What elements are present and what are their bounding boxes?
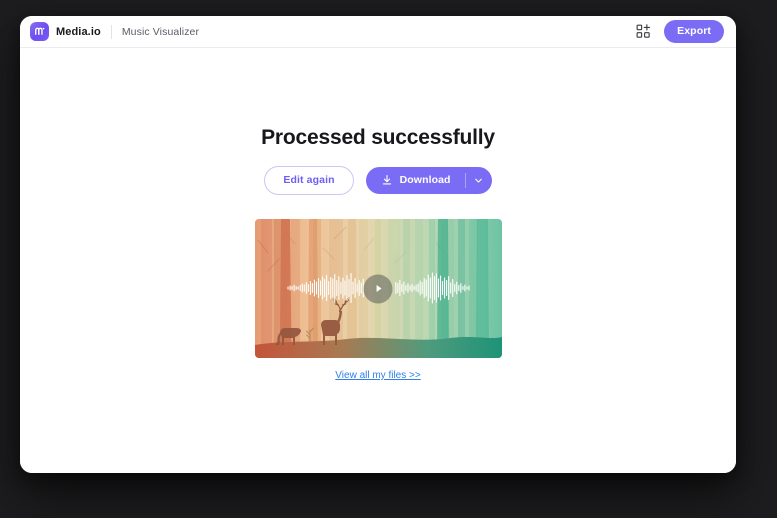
edit-again-button[interactable]: Edit again xyxy=(264,166,353,195)
download-button-group: Download xyxy=(366,167,492,194)
brand-name: Media.io xyxy=(56,26,101,38)
page-title: Processed successfully xyxy=(261,126,495,150)
brand[interactable]: Media.io xyxy=(30,22,101,41)
download-button-label: Download xyxy=(400,174,451,186)
media-io-logo-icon xyxy=(30,22,49,41)
play-icon xyxy=(372,283,384,295)
header-divider xyxy=(111,25,112,39)
app-header: Media.io Music Visualizer Export xyxy=(20,16,736,48)
desktop-backdrop: Media.io Music Visualizer Export Process xyxy=(0,0,777,518)
play-button[interactable] xyxy=(364,274,393,303)
view-all-files-link[interactable]: View all my files >> xyxy=(335,370,420,381)
app-window: Media.io Music Visualizer Export Process xyxy=(20,16,736,473)
download-icon xyxy=(381,174,393,186)
video-preview-thumbnail[interactable] xyxy=(255,219,502,358)
tool-name: Music Visualizer xyxy=(122,26,199,38)
header-actions: Export xyxy=(635,20,724,43)
apps-grid-icon[interactable] xyxy=(635,24,651,40)
download-button[interactable]: Download xyxy=(366,167,465,194)
chevron-down-icon xyxy=(473,175,484,186)
main-content: Processed successfully Edit again Downlo… xyxy=(20,48,736,473)
action-buttons: Edit again Download xyxy=(264,166,491,195)
export-button[interactable]: Export xyxy=(664,20,724,43)
download-options-button[interactable] xyxy=(466,167,492,194)
